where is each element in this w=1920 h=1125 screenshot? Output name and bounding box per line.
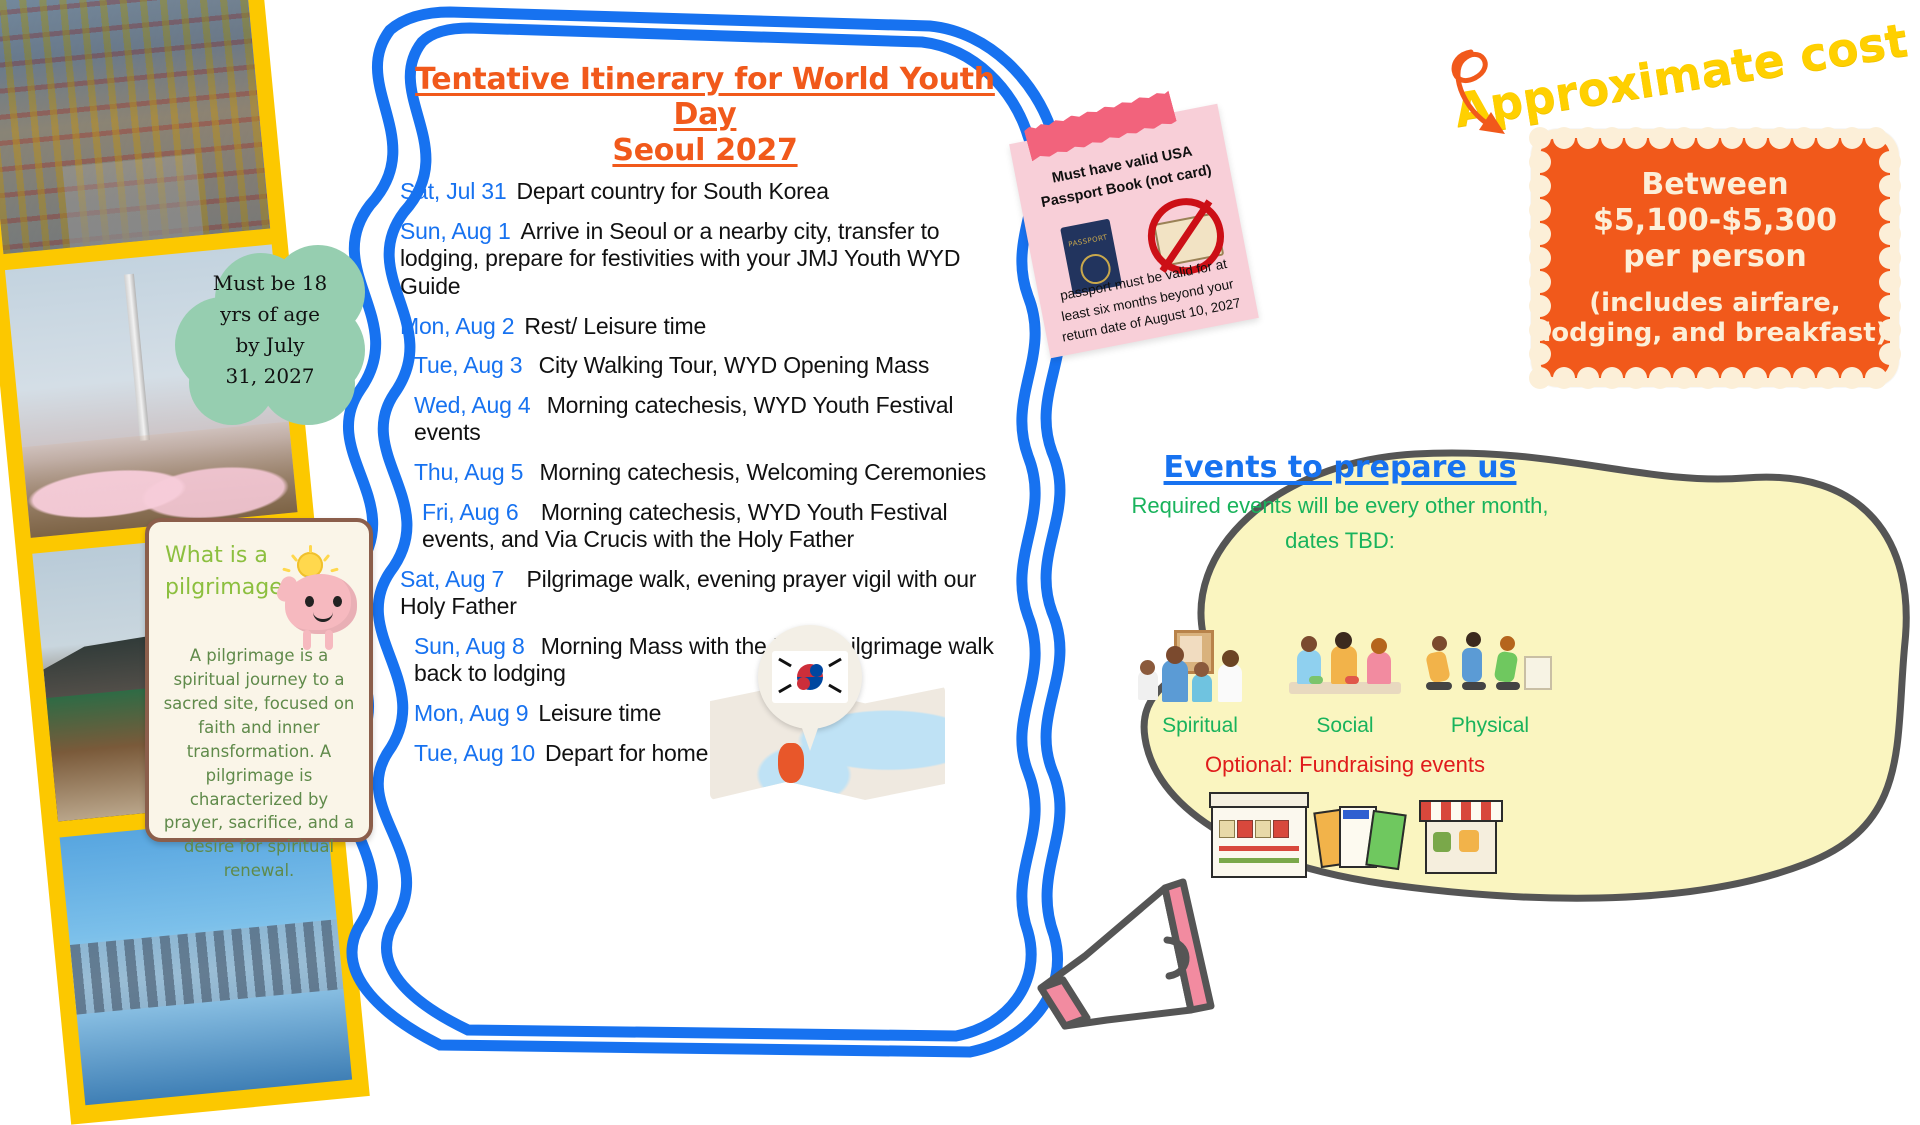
itinerary-row: Fri, Aug 6 Morning catechesis, WYD Youth… [400, 499, 1010, 554]
scallop-dot [1649, 127, 1671, 149]
itinerary-title: Tentative Itinerary for World Youth Day … [400, 62, 1010, 168]
itinerary-row-date: Tue, Aug 10 [414, 740, 535, 766]
scallop-dot [1529, 271, 1551, 293]
itinerary-row-date: Sat, Jul 31 [400, 178, 506, 204]
scallop-dot [1879, 223, 1901, 245]
itinerary-row-text: Depart country for South Korea [516, 178, 828, 204]
scallop-dot [1879, 271, 1901, 293]
scallop-dot [1529, 319, 1551, 341]
itinerary-row-date: Sun, Aug 1 [400, 218, 511, 244]
scallop-dot [1879, 199, 1901, 221]
cost-amount: Between $5,100-$5,300 per person [1540, 167, 1890, 275]
itinerary-row-date: Thu, Aug 5 [414, 459, 523, 485]
events-title: Events to prepare us [1105, 450, 1575, 485]
scallop-dot [1879, 319, 1901, 341]
itinerary-row-date: Fri, Aug 6 [422, 499, 518, 525]
age-line-3: by July [175, 330, 365, 361]
itinerary-title-line1: Tentative Itinerary for World Youth Day [400, 62, 1010, 133]
scallop-dot [1529, 151, 1551, 173]
scallop-dot [1721, 127, 1743, 149]
events-category-row: Spiritual Social [1130, 630, 1560, 738]
itinerary-row-date: Mon, Aug 2 [400, 313, 514, 339]
cost-includes: (includes airfare, lodging, and breakfas… [1540, 289, 1890, 349]
itinerary-row-text: Depart for home [545, 740, 708, 766]
bingo-tickets-icon [1317, 804, 1403, 872]
age-line-2: yrs of age [175, 299, 365, 330]
scallop-dot [1625, 127, 1647, 149]
age-requirement-text: Must be 18 yrs of age by July 31, 2027 [175, 268, 365, 392]
scallop-dot [1879, 343, 1901, 365]
itinerary-title-line2: Seoul 2027 [400, 133, 1010, 168]
scallop-dot [1865, 127, 1887, 149]
itinerary-row: Wed, Aug 4 Morning catechesis, WYD Youth… [400, 392, 1010, 447]
pin-tip [796, 711, 824, 751]
photo-myeongdong-street [0, 0, 270, 254]
passport-book-label: PASSPORT [1063, 232, 1114, 249]
scallop-dot [1793, 367, 1815, 389]
scallop-dot [1697, 367, 1719, 389]
scallop-dot [1577, 127, 1599, 149]
itinerary-row: Sun, Aug 1Arrive in Seoul or a nearby ci… [400, 218, 1010, 301]
curved-arrow-icon [1435, 38, 1545, 148]
scallop-dot [1529, 127, 1551, 149]
events-category-spiritual: Spiritual [1130, 630, 1270, 738]
scallop-dot [1553, 127, 1575, 149]
scallop-dot [1529, 367, 1551, 389]
social-cooking-icon [1275, 630, 1415, 708]
itinerary-row: Mon, Aug 2Rest/ Leisure time [400, 313, 1010, 341]
scallop-dot [1769, 127, 1791, 149]
scallop-dot [1529, 343, 1551, 365]
itinerary-row-text: City Walking Tour, WYD Opening Mass [539, 352, 930, 378]
optional-fundraising-text: Optional: Fundraising events [1130, 752, 1560, 778]
south-korea-flag-icon [772, 651, 848, 703]
scallop-dot [1841, 127, 1863, 149]
brain-mascot-icon [277, 552, 363, 648]
itinerary-row-date: Tue, Aug 3 [414, 352, 522, 378]
itinerary-row: Sat, Aug 7 Pilgrimage walk, evening pray… [400, 566, 1010, 621]
events-category-label: Spiritual [1130, 714, 1270, 738]
pilgrimage-answer: A pilgrimage is a spiritual journey to a… [161, 644, 357, 883]
scallop-dot [1745, 367, 1767, 389]
itinerary-row: Thu, Aug 5 Morning catechesis, Welcoming… [400, 459, 1010, 487]
scallop-dot [1879, 295, 1901, 317]
scallop-dot [1601, 367, 1623, 389]
korea-map-pin-graphic [700, 625, 950, 800]
events-category-label: Physical [1420, 714, 1560, 738]
age-line-4: 31, 2027 [175, 361, 365, 392]
brain-body [285, 574, 357, 634]
scallop-dot [1529, 295, 1551, 317]
scallop-dot [1879, 175, 1901, 197]
scallop-dot [1529, 175, 1551, 197]
itinerary-row: Tue, Aug 3 City Walking Tour, WYD Openin… [400, 352, 1010, 380]
market-stall-icon [1419, 800, 1499, 874]
scallop-dot [1601, 127, 1623, 149]
cost-amount-box: Between $5,100-$5,300 per person (includ… [1540, 138, 1890, 378]
taeguk-symbol [797, 664, 823, 690]
scallop-dot [1553, 367, 1575, 389]
infographic-canvas: Tentative Itinerary for World Youth Day … [0, 0, 1920, 1080]
itinerary-row-date: Mon, Aug 9 [414, 700, 528, 726]
pilgrimage-question: What is a pilgrimage? [165, 540, 285, 604]
scallop-dot [1793, 127, 1815, 149]
itinerary-row-text: Morning catechesis, Welcoming Ceremonies [539, 459, 986, 485]
events-category-physical: Physical [1420, 630, 1560, 738]
scallop-dot [1577, 367, 1599, 389]
scallop-dot [1817, 127, 1839, 149]
spiritual-family-prayer-icon [1130, 630, 1270, 708]
passport-requirement-note: Must have valid USA Passport Book (not c… [1009, 104, 1259, 358]
scallop-dot [1673, 367, 1695, 389]
scallop-dot [1673, 127, 1695, 149]
itinerary-row-date: Sun, Aug 8 [414, 633, 525, 659]
cost-line-1: Between [1540, 167, 1890, 203]
scallop-dot [1529, 247, 1551, 269]
scallop-dot [1745, 127, 1767, 149]
events-category-social: Social [1275, 630, 1415, 738]
itinerary-row-date: Wed, Aug 4 [414, 392, 531, 418]
cost-line-2: $5,100-$5,300 [1540, 203, 1890, 239]
events-category-label: Social [1275, 714, 1415, 738]
scallop-dot [1879, 151, 1901, 173]
itinerary-row: Sat, Jul 31Depart country for South Kore… [400, 178, 1010, 206]
pilgrimage-definition-card: What is a pilgrimage? A pilgrimage is a … [145, 518, 373, 842]
scallop-dot [1529, 223, 1551, 245]
physical-sports-icon [1420, 630, 1560, 708]
scallop-dot [1625, 367, 1647, 389]
itinerary-row-text: Leisure time [538, 700, 661, 726]
scallop-dot [1529, 199, 1551, 221]
scallop-dot [1697, 127, 1719, 149]
megaphone-icon [1015, 860, 1235, 1050]
scallop-dot [1649, 367, 1671, 389]
cost-line-3: per person [1540, 239, 1890, 275]
scallop-dot [1865, 367, 1887, 389]
itinerary-row-date: Sat, Aug 7 [400, 566, 504, 592]
scallop-dot [1841, 367, 1863, 389]
age-line-1: Must be 18 [175, 268, 365, 299]
scallop-dot [1769, 367, 1791, 389]
scallop-dot [1721, 367, 1743, 389]
events-subtitle: Required events will be every other mont… [1105, 488, 1575, 558]
map-pin-icon [758, 625, 862, 753]
scallop-dot [1817, 367, 1839, 389]
itinerary-row-text: Rest/ Leisure time [524, 313, 706, 339]
scallop-dot [1879, 247, 1901, 269]
